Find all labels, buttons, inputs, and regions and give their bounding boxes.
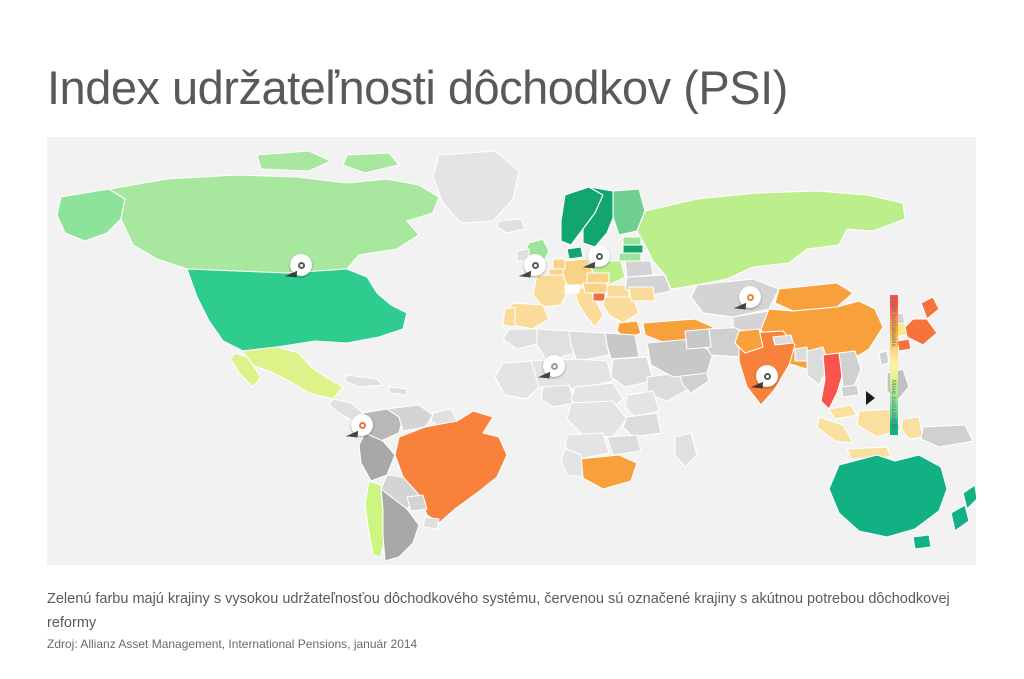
country-paraguay [407,495,427,511]
legend-label-least-sustainable: Least sustainable [889,297,897,347]
country-nepal [773,335,793,345]
map-panel[interactable]: Least sustainable More sustainable [47,137,976,565]
country-uruguay [423,517,439,529]
country-iraq [685,329,711,349]
map-legend: Least sustainable More sustainable [890,295,950,435]
world-map-svg [47,137,976,565]
country-latvia [623,245,643,253]
marker-europe[interactable] [524,254,546,276]
country-austria [583,283,609,293]
marker-brazil[interactable] [351,414,373,436]
country-lithuania [619,253,641,261]
marker-north-america[interactable] [290,254,312,276]
country-hispaniola [389,387,407,395]
triangle-right-icon [866,391,875,405]
marker-china[interactable] [739,286,761,308]
legend-label-more-sustainable: More sustainable [889,380,897,429]
map-caption: Zelenú farbu majú krajiny s vysokou udrž… [47,587,977,635]
page-title: Index udržateľnosti dôchodkov (PSI) [47,59,788,117]
country-denmark [567,247,583,259]
country-slovenia [593,293,605,301]
country-czech [587,273,609,283]
map-stage: Least sustainable More sustainable [47,137,976,565]
country-belarus [625,261,653,277]
country-netherlands [553,259,565,269]
country-tanzania [623,413,661,437]
country-tasmania [913,535,931,549]
page-root: Index udržateľnosti dôchodkov (PSI) [0,0,1024,679]
country-romania [629,287,655,301]
marker-russia[interactable] [588,245,610,267]
country-egypt [605,333,639,359]
marker-southeast-asia[interactable] [756,365,778,387]
country-estonia [623,237,641,245]
country-libya [569,331,609,361]
marker-africa[interactable] [543,355,565,377]
country-cambodia [841,385,859,397]
country-taiwan [879,351,889,365]
map-source: Zdroj: Allianz Asset Management, Interna… [47,635,977,653]
country-zambia [607,435,641,455]
country-portugal [503,307,515,327]
country-switzerland [565,285,579,293]
